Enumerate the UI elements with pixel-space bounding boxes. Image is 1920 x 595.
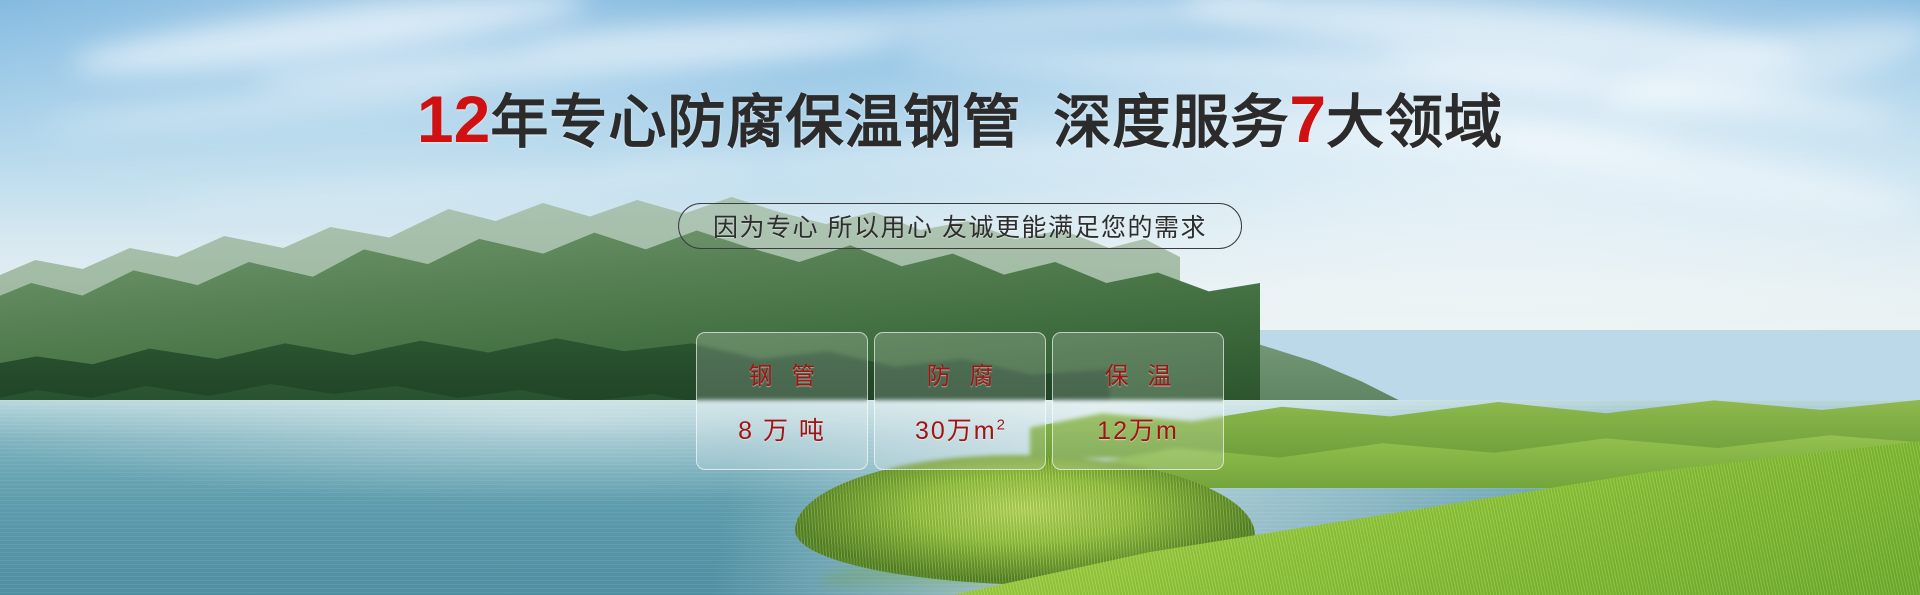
banner-content: 12年专心防腐保温钢管深度服务7大领域 因为专心 所以用心 友诚更能满足您的需求… [0,0,1920,595]
headline-part-two: 深度服务 [1053,90,1289,155]
subtitle-text: 因为专心 所以用心 友诚更能满足您的需求 [713,208,1207,244]
stat-card-label: 钢 管 [743,356,822,391]
stat-card-value: 12万m [1097,411,1179,447]
promo-banner: 12年专心防腐保温钢管深度服务7大领域 因为专心 所以用心 友诚更能满足您的需求… [0,0,1920,595]
stat-card-steel-pipe: 钢 管 8 万 吨 [696,332,868,470]
stat-card-label: 保 温 [1099,356,1178,391]
headline-part-three: 大领域 [1326,90,1503,155]
stat-card-value-text: 12万m [1097,417,1179,445]
stat-card-value-text: 30万m [915,417,997,445]
stat-card-value: 30万m2 [915,411,1005,447]
stat-card-label: 防 腐 [921,356,1000,391]
subtitle-pill: 因为专心 所以用心 友诚更能满足您的需求 [678,203,1242,249]
stat-card-value: 8 万 吨 [738,411,826,447]
banner-headline: 12年专心防腐保温钢管深度服务7大领域 [0,86,1920,152]
stats-card-row: 钢 管 8 万 吨 防 腐 30万m2 保 温 12万m [696,332,1224,470]
stat-card-anticorrosion: 防 腐 30万m2 [874,332,1046,470]
headline-part-one: 年专心防腐保温钢管 [490,90,1021,155]
headline-years-number: 12 [417,82,490,156]
stat-card-insulation: 保 温 12万m [1052,332,1224,470]
headline-fields-number: 7 [1289,82,1326,156]
stat-card-value-exponent: 2 [997,416,1005,433]
stat-card-value-text: 8 万 吨 [738,417,826,445]
